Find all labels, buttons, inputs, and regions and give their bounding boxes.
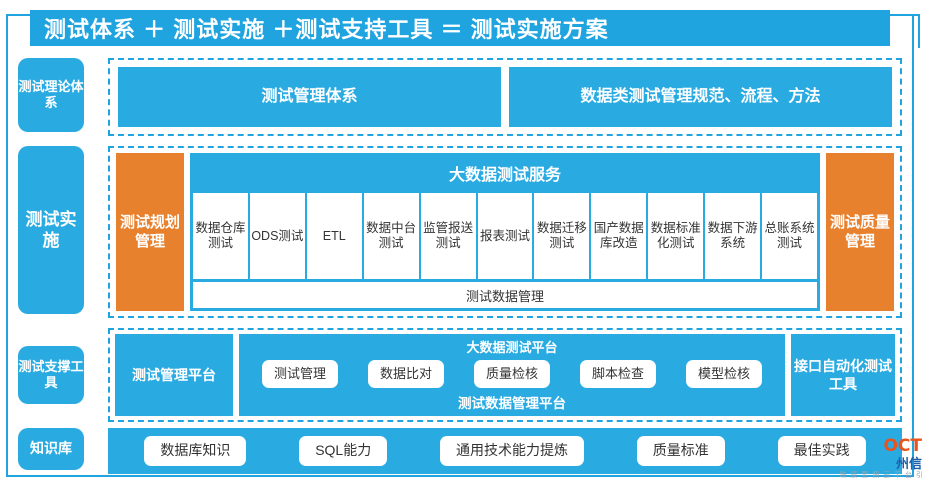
implementation-dashed-group: 测试规划管理 大数据测试服务 数据仓库测试ODS测试ETL数据中台测试监管报送测… <box>108 146 902 318</box>
sidebar-item-implementation[interactable]: 测试实施 <box>18 146 84 314</box>
knowledge-chip-0[interactable]: 数据库知识 <box>144 436 246 466</box>
bigdata-test-service-title: 大数据测试服务 <box>190 153 820 193</box>
knowledge-chip-1[interactable]: SQL能力 <box>299 436 387 466</box>
test-data-management-footer: 测试数据管理 <box>190 279 820 311</box>
test-data-management-platform-label: 测试数据管理平台 <box>239 392 785 416</box>
platform-chip-0[interactable]: 测试管理 <box>262 360 338 388</box>
knowledge-chip-2[interactable]: 通用技术能力提炼 <box>440 436 584 466</box>
service-cell-0[interactable]: 数据仓库测试 <box>193 193 248 279</box>
service-cell-3[interactable]: 数据中台测试 <box>364 193 419 279</box>
theory-dashed-group: 测试管理体系 数据类测试管理规范、流程、方法 <box>108 58 902 136</box>
service-cell-10[interactable]: 总账系统测试 <box>762 193 817 279</box>
platform-chip-2[interactable]: 质量检核 <box>474 360 550 388</box>
platform-chip-4[interactable]: 模型检核 <box>686 360 762 388</box>
service-cell-6[interactable]: 数据迁移测试 <box>534 193 589 279</box>
bigdata-test-platform-panel: 大数据测试平台 测试管理数据比对质量检核脚本检查模型检核 测试数据管理平台 <box>239 334 785 416</box>
service-cell-2[interactable]: ETL <box>307 193 362 279</box>
frame-bracket-left <box>6 14 32 48</box>
row-implementation: 测试实施 测试规划管理 大数据测试服务 数据仓库测试ODS测试ETL数据中台测试… <box>18 146 902 318</box>
bigdata-test-service-panel: 大数据测试服务 数据仓库测试ODS测试ETL数据中台测试监管报送测试报表测试数据… <box>190 153 820 311</box>
row-knowledge-base: 知识库 数据库知识SQL能力通用技术能力提炼质量标准最佳实践 <box>18 428 902 474</box>
service-cell-7[interactable]: 国产数据库改造 <box>591 193 646 279</box>
knowledge-chip-list: 数据库知识SQL能力通用技术能力提炼质量标准最佳实践 <box>108 428 902 474</box>
service-cell-5[interactable]: 报表测试 <box>478 193 533 279</box>
test-management-platform[interactable]: 测试管理平台 <box>115 334 233 416</box>
platform-chip-1[interactable]: 数据比对 <box>368 360 444 388</box>
service-cell-grid: 数据仓库测试ODS测试ETL数据中台测试监管报送测试报表测试数据迁移测试国产数据… <box>190 193 820 279</box>
service-cell-1[interactable]: ODS测试 <box>250 193 305 279</box>
api-automation-test-tool[interactable]: 接口自动化测试工具 <box>791 334 895 416</box>
page-title: 测试体系 ＋ 测试实施 ＋测试支持工具 ＝ 测试实施方案 <box>30 10 890 46</box>
service-cell-9[interactable]: 数据下游系统 <box>705 193 760 279</box>
platform-chip-list: 测试管理数据比对质量检核脚本检查模型检核 <box>239 356 785 392</box>
pillar-test-planning-management[interactable]: 测试规划管理 <box>116 153 184 311</box>
knowledge-chip-4[interactable]: 最佳实践 <box>778 436 866 466</box>
test-data-management-label[interactable]: 测试数据管理 <box>193 282 817 308</box>
theory-box-0[interactable]: 测试管理体系 <box>118 67 501 127</box>
sidebar-item-theory[interactable]: 测试理论体系 <box>18 58 84 132</box>
frame-bracket-right <box>894 14 920 48</box>
pillar-test-quality-management[interactable]: 测试质量管理 <box>826 153 894 311</box>
slide-canvas: 测试体系 ＋ 测试实施 ＋测试支持工具 ＝ 测试实施方案 测试理论体系 测试管理… <box>0 0 926 486</box>
sidebar-item-support-tools[interactable]: 测试支撑工具 <box>18 346 84 404</box>
service-cell-8[interactable]: 数据标准化测试 <box>648 193 703 279</box>
platform-chip-3[interactable]: 脚本检查 <box>580 360 656 388</box>
bigdata-test-platform-title: 大数据测试平台 <box>239 334 785 356</box>
knowledge-chip-3[interactable]: 质量标准 <box>637 436 725 466</box>
service-cell-4[interactable]: 监管报送测试 <box>421 193 476 279</box>
theory-box-1[interactable]: 数据类测试管理规范、流程、方法 <box>509 67 892 127</box>
support-dashed-group: 测试管理平台 大数据测试平台 测试管理数据比对质量检核脚本检查模型检核 测试数据… <box>108 328 902 422</box>
row-theory: 测试理论体系 测试管理体系 数据类测试管理规范、流程、方法 <box>18 58 902 136</box>
row-support-tools: 测试支撑工具 测试管理平台 大数据测试平台 测试管理数据比对质量检核脚本检查模型… <box>18 328 902 422</box>
sidebar-item-knowledge-base[interactable]: 知识库 <box>18 428 84 470</box>
